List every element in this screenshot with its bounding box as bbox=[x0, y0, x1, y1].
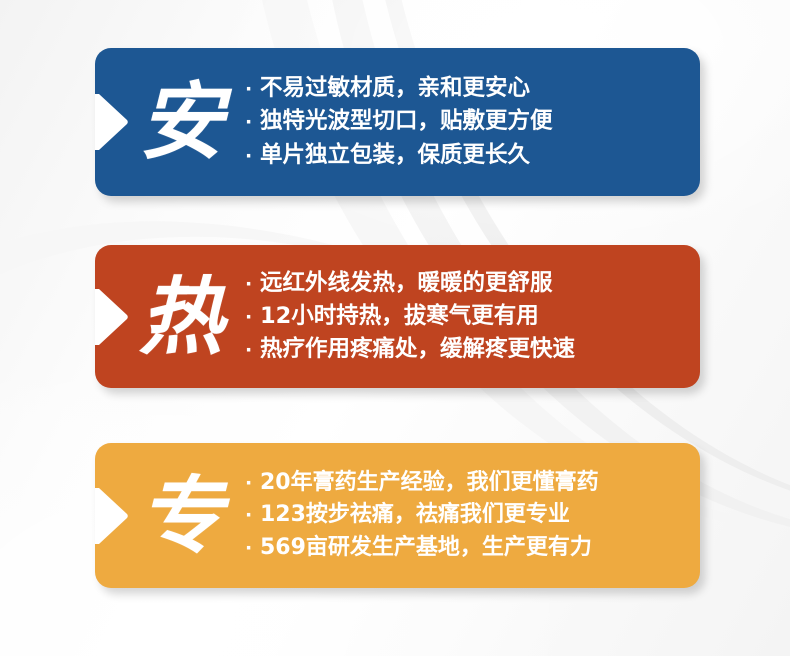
panel-glyph-professional: 专 bbox=[95, 474, 245, 558]
bullet-dot-icon: · bbox=[245, 275, 260, 294]
bullet-item: · 独特光波型切口，贴敷更方便 bbox=[245, 105, 684, 138]
bullet-item: · 12小时持热，拔寒气更有用 bbox=[245, 300, 684, 333]
bullet-text: 12小时持热，拔寒气更有用 bbox=[260, 300, 539, 333]
bullet-dot-icon: · bbox=[245, 341, 260, 360]
bullet-item: · 123按步祛痛，祛痛我们更专业 bbox=[245, 499, 684, 531]
bullet-text: 远红外线发热，暖暖的更舒服 bbox=[260, 267, 553, 300]
bullet-text: 123按步祛痛，祛痛我们更专业 bbox=[260, 499, 570, 531]
bullet-text: 热疗作用疼痛处，缓解疼更快速 bbox=[260, 333, 575, 366]
bullet-text: 20年膏药生产经验，我们更懂膏药 bbox=[260, 467, 599, 499]
panel-glyph-safe: 安 bbox=[95, 80, 245, 164]
bullet-dot-icon: · bbox=[245, 113, 260, 132]
feature-panel-professional: 专 · 20年膏药生产经验，我们更懂膏药 · 123按步祛痛，祛痛我们更专业 ·… bbox=[95, 443, 700, 588]
bullet-text: 单片独立包装，保质更长久 bbox=[260, 139, 530, 172]
bullet-item: · 热疗作用疼痛处，缓解疼更快速 bbox=[245, 333, 684, 366]
panel-bullet-list-safe: · 不易过敏材质，亲和更安心 · 独特光波型切口，贴敷更方便 · 单片独立包装，… bbox=[245, 72, 700, 171]
bullet-item: · 远红外线发热，暖暖的更舒服 bbox=[245, 267, 684, 300]
panel-glyph-heat: 热 bbox=[95, 275, 245, 359]
bullet-item: · 569亩研发生产基地，生产更有力 bbox=[245, 532, 684, 564]
bullet-text: 不易过敏材质，亲和更安心 bbox=[260, 72, 530, 105]
bullet-dot-icon: · bbox=[245, 506, 260, 525]
bullet-item: · 单片独立包装，保质更长久 bbox=[245, 139, 684, 172]
bullet-text: 独特光波型切口，贴敷更方便 bbox=[260, 105, 553, 138]
bullet-item: · 不易过敏材质，亲和更安心 bbox=[245, 72, 684, 105]
bullet-dot-icon: · bbox=[245, 147, 260, 166]
bullet-dot-icon: · bbox=[245, 539, 260, 558]
bullet-dot-icon: · bbox=[245, 308, 260, 327]
panel-bullet-list-heat: · 远红外线发热，暖暖的更舒服 · 12小时持热，拔寒气更有用 · 热疗作用疼痛… bbox=[245, 267, 700, 366]
bullet-dot-icon: · bbox=[245, 80, 260, 99]
panel-bullet-list-professional: · 20年膏药生产经验，我们更懂膏药 · 123按步祛痛，祛痛我们更专业 · 5… bbox=[245, 467, 700, 564]
feature-panel-heat: 热 · 远红外线发热，暖暖的更舒服 · 12小时持热，拔寒气更有用 · 热疗作用… bbox=[95, 245, 700, 388]
feature-poster: 安 · 不易过敏材质，亲和更安心 · 独特光波型切口，贴敷更方便 · 单片独立包… bbox=[0, 0, 790, 656]
bullet-item: · 20年膏药生产经验，我们更懂膏药 bbox=[245, 467, 684, 499]
feature-panel-safe: 安 · 不易过敏材质，亲和更安心 · 独特光波型切口，贴敷更方便 · 单片独立包… bbox=[95, 48, 700, 196]
bullet-text: 569亩研发生产基地，生产更有力 bbox=[260, 532, 592, 564]
bullet-dot-icon: · bbox=[245, 474, 260, 493]
